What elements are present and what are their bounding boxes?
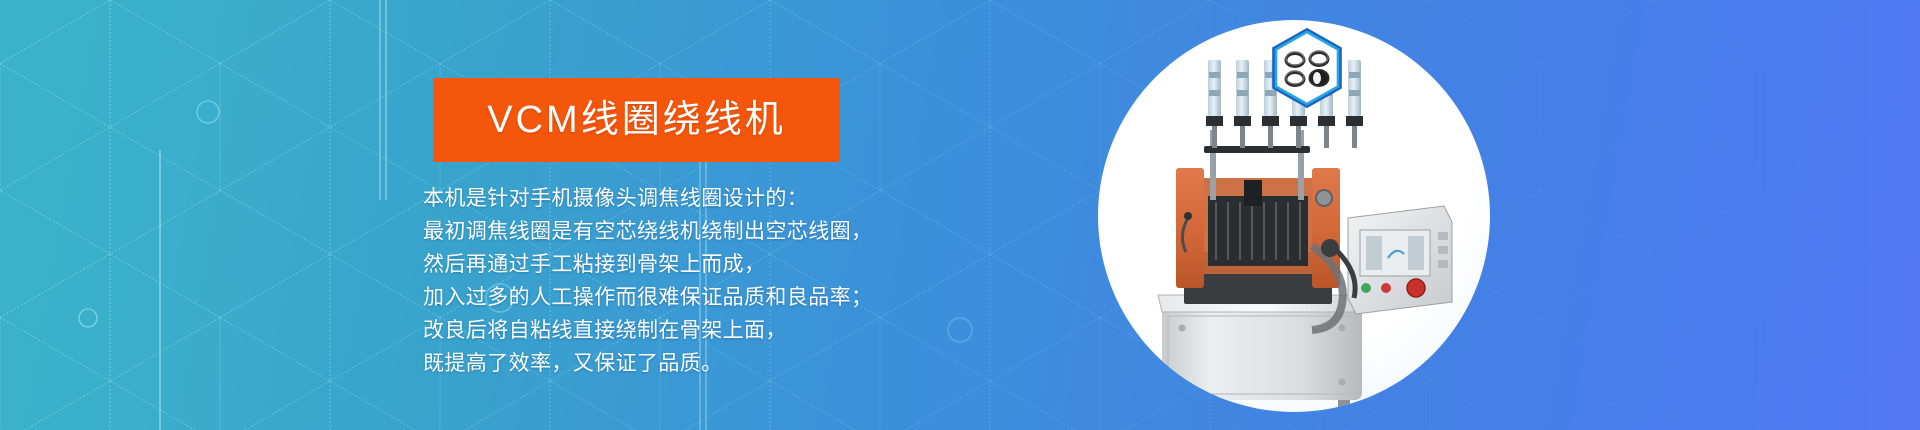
coil-sample-4: [1310, 70, 1329, 86]
description-block: 本机是针对手机摄像头调焦线圈设计的： 最初调焦线圈是有空芯绕线机绕制出空芯线圈，…: [423, 182, 1063, 380]
product-banner: VCM线圈绕线机 本机是针对手机摄像头调焦线圈设计的： 最初调焦线圈是有空芯绕线…: [0, 0, 1920, 430]
coil-sample-hexagon-badge: [1270, 27, 1344, 109]
page-title: VCM线圈绕线机: [487, 101, 785, 139]
description-line: 本机是针对手机摄像头调焦线圈设计的：: [423, 182, 1063, 215]
description-line: 加入过多的人工操作而很难保证品质和良品率；: [423, 281, 1063, 314]
description-line: 然后再通过手工粘接到骨架上而成，: [423, 248, 1063, 281]
description-line: 既提高了效率，又保证了品质。: [423, 347, 1063, 380]
title-plate: VCM线圈绕线机: [433, 78, 840, 162]
description-line: 最初调焦线圈是有空芯绕线机绕制出空芯线圈，: [423, 215, 1063, 248]
description-line: 改良后将自粘线直接绕制在骨架上面，: [423, 314, 1063, 347]
